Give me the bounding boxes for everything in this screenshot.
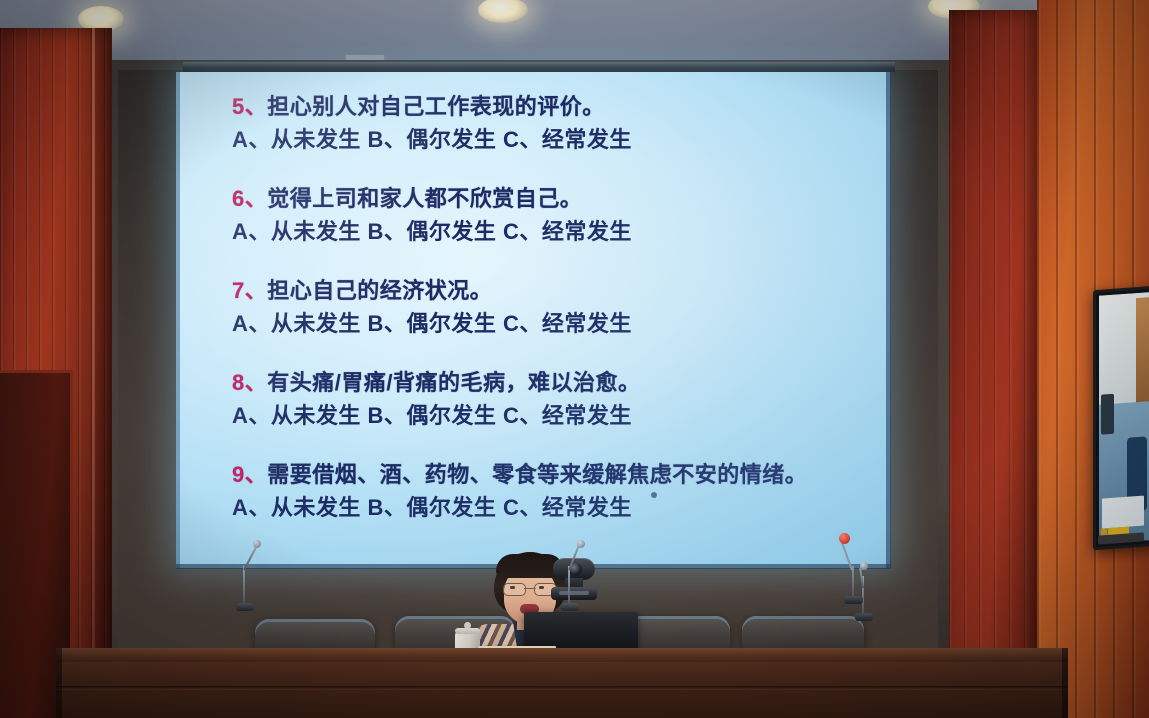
- question-text: 有头痛/胃痛/背痛的毛病，难以治愈。: [267, 370, 640, 395]
- mug-knob: [464, 622, 471, 629]
- glasses-icon: [503, 583, 557, 594]
- question-number: 6: [232, 186, 245, 211]
- question-separator: 、: [245, 94, 268, 119]
- question-block: 6、觉得上司和家人都不欣赏自己。 A、从未发生 B、偶尔发生 C、经常发生: [232, 182, 876, 248]
- mic-base: [561, 603, 579, 611]
- wall-monitor-screen: [1099, 292, 1149, 543]
- slide-content: 5、担心别人对自己工作表现的评价。 A、从未发生 B、偶尔发生 C、经常发生 6…: [232, 90, 876, 550]
- question-number: 9: [232, 462, 245, 487]
- mic-base: [844, 596, 863, 604]
- question-block: 9、需要借烟、酒、药物、零食等来缓解焦虑不安的情绪。 A、从未发生 B、偶尔发生…: [232, 458, 876, 524]
- question-separator: 、: [245, 370, 268, 395]
- mic-head-icon: [577, 540, 585, 548]
- dais-front-panel: [56, 662, 1068, 718]
- question-separator: 、: [245, 186, 268, 211]
- answer-options: A、从未发生 B、偶尔发生 C、经常发生: [232, 307, 876, 340]
- answer-options: A、从未发生 B、偶尔发生 C、经常发生: [232, 123, 876, 156]
- mic-head-icon: [839, 533, 850, 544]
- question-line: 8、有头痛/胃痛/背痛的毛病，难以治愈。: [232, 366, 876, 399]
- screen-edge-left: [176, 72, 180, 568]
- question-line: 6、觉得上司和家人都不欣赏自己。: [232, 182, 876, 215]
- mic-stem: [568, 566, 570, 606]
- question-block: 7、担心自己的经济状况。 A、从未发生 B、偶尔发生 C、经常发生: [232, 274, 876, 340]
- mic-base: [855, 613, 873, 621]
- question-number: 8: [232, 370, 245, 395]
- question-line: 7、担心自己的经济状况。: [232, 274, 876, 307]
- wall-monitor: [1093, 286, 1149, 550]
- question-block: 8、有头痛/胃痛/背痛的毛病，难以治愈。 A、从未发生 B、偶尔发生 C、经常发…: [232, 366, 876, 432]
- mic-head-icon: [860, 562, 868, 570]
- question-number: 5: [232, 94, 245, 119]
- video-conference-camera: [551, 558, 597, 604]
- question-number: 7: [232, 278, 245, 303]
- monitor-view-desk: [1102, 496, 1144, 529]
- monitor-view-object: [1101, 394, 1114, 435]
- question-text: 担心别人对自己工作表现的评价。: [267, 94, 605, 119]
- question-separator: 、: [245, 278, 268, 303]
- projection-screen: 5、担心别人对自己工作表现的评价。 A、从未发生 B、偶尔发生 C、经常发生 6…: [176, 72, 890, 568]
- mic-stem: [243, 566, 245, 606]
- glasses-lens-left: [503, 583, 526, 596]
- dais-groove: [56, 686, 1068, 690]
- screen-top-rail: [183, 62, 895, 72]
- camera-base-plate: [559, 591, 589, 595]
- lecture-hall-photo: 5、担心别人对自己工作表现的评价。 A、从未发生 B、偶尔发生 C、经常发生 6…: [0, 0, 1149, 718]
- mic-base: [236, 603, 254, 611]
- question-text: 觉得上司和家人都不欣赏自己。: [267, 186, 582, 211]
- question-line: 9、需要借烟、酒、药物、零食等来缓解焦虑不安的情绪。: [232, 458, 876, 491]
- answer-options: A、从未发生 B、偶尔发生 C、经常发生: [232, 215, 876, 248]
- monitor-view-wood: [1136, 297, 1149, 412]
- answer-options: A、从未发生 B、偶尔发生 C、经常发生: [232, 491, 876, 524]
- left-wood-seam: [92, 28, 95, 718]
- screen-edge-right: [886, 72, 891, 568]
- camera-head: [553, 558, 595, 580]
- question-line: 5、担心别人对自己工作表现的评价。: [232, 90, 876, 123]
- dais-edge-left: [56, 648, 62, 718]
- answer-options: A、从未发生 B、偶尔发生 C、经常发生: [232, 399, 876, 432]
- question-block: 5、担心别人对自己工作表现的评价。 A、从未发生 B、偶尔发生 C、经常发生: [232, 90, 876, 156]
- question-text: 需要借烟、酒、药物、零食等来缓解焦虑不安的情绪。: [267, 462, 807, 487]
- dais-edge-right: [1062, 648, 1068, 718]
- mic-stem: [852, 566, 854, 600]
- screen-speck: [651, 492, 657, 498]
- mic-head-icon: [253, 540, 261, 548]
- question-text: 担心自己的经济状况。: [267, 278, 492, 303]
- right-wood-panel-inner: [949, 10, 1041, 718]
- question-separator: 、: [245, 462, 268, 487]
